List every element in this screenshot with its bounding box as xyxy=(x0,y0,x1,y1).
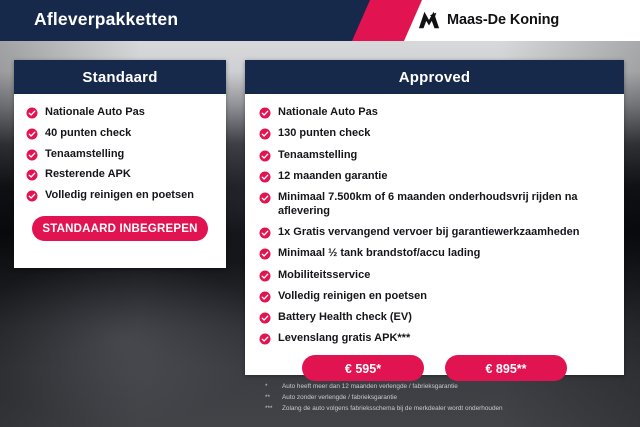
feature-label: 40 punten check xyxy=(45,127,131,141)
check-circle-icon xyxy=(259,333,271,345)
feature-label: Tenaamstelling xyxy=(278,149,357,163)
footnote-marker: ** xyxy=(262,392,282,403)
feature-label: Resterende APK xyxy=(45,168,131,182)
page-header: Afleverpakketten Maas-De Koning xyxy=(0,0,640,41)
list-item: Minimaal 7.500km of 6 maanden onderhouds… xyxy=(259,191,610,219)
price-button-595[interactable]: € 595* xyxy=(302,355,424,381)
footnote-row: * Auto heeft meer dan 12 maanden verleng… xyxy=(262,381,622,392)
package-card-standaard: Standaard Nationale Auto Pas 40 punten c… xyxy=(14,60,226,268)
list-item: 1x Gratis vervangend vervoer bij garanti… xyxy=(259,226,610,240)
check-circle-icon xyxy=(259,312,271,324)
feature-label: Minimaal 7.500km of 6 maanden onderhouds… xyxy=(278,191,610,219)
feature-list-approved: Nationale Auto Pas 130 punten check Tena… xyxy=(259,106,610,346)
check-circle-icon xyxy=(259,227,271,239)
list-item: Tenaamstelling xyxy=(259,149,610,163)
list-item: Volledig reinigen en poetsen xyxy=(26,189,214,203)
list-item: Levenslang gratis APK*** xyxy=(259,332,610,346)
footnote-text: Auto heeft meer dan 12 maanden verlengde… xyxy=(282,381,622,392)
footnote-text: Zolang de auto volgens fabrieksschema bi… xyxy=(282,403,622,414)
feature-label: Mobiliteitsservice xyxy=(278,269,370,283)
list-item: Minimaal ½ tank brandstof/accu lading xyxy=(259,247,610,261)
card-title-approved: Approved xyxy=(245,60,624,94)
footnotes: * Auto heeft meer dan 12 maanden verleng… xyxy=(262,381,622,414)
check-circle-icon xyxy=(26,190,38,202)
check-circle-icon xyxy=(259,270,271,282)
check-circle-icon xyxy=(26,149,38,161)
check-circle-icon xyxy=(259,107,271,119)
list-item: Tenaamstelling xyxy=(26,148,214,162)
feature-label: 12 maanden garantie xyxy=(278,170,387,184)
brand-name-label: Maas-De Koning xyxy=(447,12,559,28)
list-item: Nationale Auto Pas xyxy=(259,106,610,120)
list-item: Battery Health check (EV) xyxy=(259,311,610,325)
feature-label: Volledig reinigen en poetsen xyxy=(278,290,427,304)
feature-label: Battery Health check (EV) xyxy=(278,311,412,325)
footnote-text: Auto zonder verlengde / fabrieksgarantie xyxy=(282,392,622,403)
feature-label: Nationale Auto Pas xyxy=(45,106,145,120)
list-item: Nationale Auto Pas xyxy=(26,106,214,120)
feature-label: 130 punten check xyxy=(278,127,370,141)
check-circle-icon xyxy=(26,107,38,119)
footnote-row: *** Zolang de auto volgens fabrieksschem… xyxy=(262,403,622,414)
list-item: 12 maanden garantie xyxy=(259,170,610,184)
check-circle-icon xyxy=(259,248,271,260)
brand-logo: Maas-De Koning xyxy=(418,10,559,30)
feature-label: 1x Gratis vervangend vervoer bij garanti… xyxy=(278,226,579,240)
card-body-approved: Nationale Auto Pas 130 punten check Tena… xyxy=(245,94,624,381)
standaard-inbegrepen-button[interactable]: STANDAARD INBEGREPEN xyxy=(32,216,208,241)
list-item: 40 punten check xyxy=(26,127,214,141)
screenshot-root: Afleverpakketten Maas-De Koning Standaar… xyxy=(0,0,640,427)
check-circle-icon xyxy=(26,169,38,181)
feature-label: Tenaamstelling xyxy=(45,148,124,162)
check-circle-icon xyxy=(259,150,271,162)
feature-label: Volledig reinigen en poetsen xyxy=(45,189,194,203)
feature-label: Levenslang gratis APK*** xyxy=(278,332,410,346)
price-button-group: € 595* € 895** xyxy=(259,355,610,381)
card-title-standaard: Standaard xyxy=(14,60,226,94)
card-body-standaard: Nationale Auto Pas 40 punten check Tenaa… xyxy=(14,94,226,241)
list-item: Volledig reinigen en poetsen xyxy=(259,290,610,304)
feature-label: Nationale Auto Pas xyxy=(278,106,378,120)
list-item: 130 punten check xyxy=(259,127,610,141)
footnote-marker: *** xyxy=(262,403,282,414)
check-circle-icon xyxy=(259,171,271,183)
list-item: Mobiliteitsservice xyxy=(259,269,610,283)
check-circle-icon xyxy=(259,128,271,140)
footnote-row: ** Auto zonder verlengde / fabrieksgaran… xyxy=(262,392,622,403)
maas-de-koning-m-logo-icon xyxy=(418,10,440,30)
footnote-marker: * xyxy=(262,381,282,392)
list-item: Resterende APK xyxy=(26,168,214,182)
price-button-895[interactable]: € 895** xyxy=(445,355,567,381)
feature-list-standaard: Nationale Auto Pas 40 punten check Tenaa… xyxy=(26,106,214,203)
page-title: Afleverpakketten xyxy=(34,9,178,30)
feature-label: Minimaal ½ tank brandstof/accu lading xyxy=(278,247,480,261)
check-circle-icon xyxy=(259,291,271,303)
check-circle-icon xyxy=(259,192,271,204)
check-circle-icon xyxy=(26,128,38,140)
package-card-approved: Approved Nationale Auto Pas 130 punten c… xyxy=(245,60,624,375)
